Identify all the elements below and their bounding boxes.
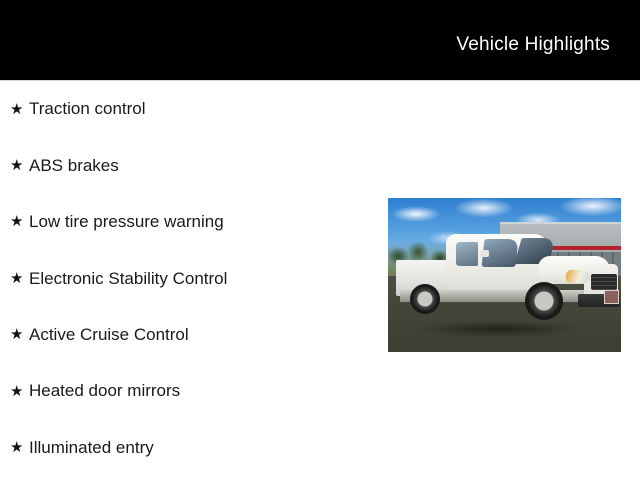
truck-rear-window (456, 242, 478, 266)
page-title: Vehicle Highlights (456, 24, 640, 56)
list-item: ★ Traction control (0, 81, 380, 137)
vehicle-highlights-list: ★ Traction control ★ ABS brakes ★ Low ti… (0, 81, 380, 476)
list-item: ★ ABS brakes (0, 137, 380, 193)
list-item: ★ Illuminated entry (0, 419, 380, 475)
highlight-label: Active Cruise Control (29, 325, 189, 345)
highlight-label: Heated door mirrors (29, 381, 180, 401)
list-item: ★ Heated door mirrors (0, 363, 380, 419)
star-bullet-icon: ★ (10, 158, 29, 173)
highlight-label: ABS brakes (29, 156, 119, 176)
truck-front-wheel (525, 282, 563, 320)
star-bullet-icon: ★ (10, 214, 29, 229)
list-item: ★ Active Cruise Control (0, 307, 380, 363)
highlight-label: Low tire pressure warning (29, 212, 224, 232)
truck-rear-wheel (410, 284, 440, 314)
highlight-label: Illuminated entry (29, 438, 154, 458)
star-bullet-icon: ★ (10, 327, 29, 342)
page-footer (0, 470, 640, 480)
truck-license-plate (604, 290, 619, 304)
star-bullet-icon: ★ (10, 440, 29, 455)
photo-vehicle-shadow (394, 318, 604, 340)
page-header: Vehicle Highlights (0, 0, 640, 80)
list-item: ★ Low tire pressure warning (0, 194, 380, 250)
highlight-label: Traction control (29, 99, 146, 119)
list-item: ★ Electronic Stability Control (0, 250, 380, 306)
star-bullet-icon: ★ (10, 102, 29, 117)
star-bullet-icon: ★ (10, 271, 29, 286)
star-bullet-icon: ★ (10, 384, 29, 399)
vehicle-photo (388, 198, 621, 352)
highlight-label: Electronic Stability Control (29, 269, 227, 289)
truck-side-mirror (480, 250, 489, 257)
truck-headlight (566, 270, 590, 283)
truck-grille (591, 274, 617, 290)
